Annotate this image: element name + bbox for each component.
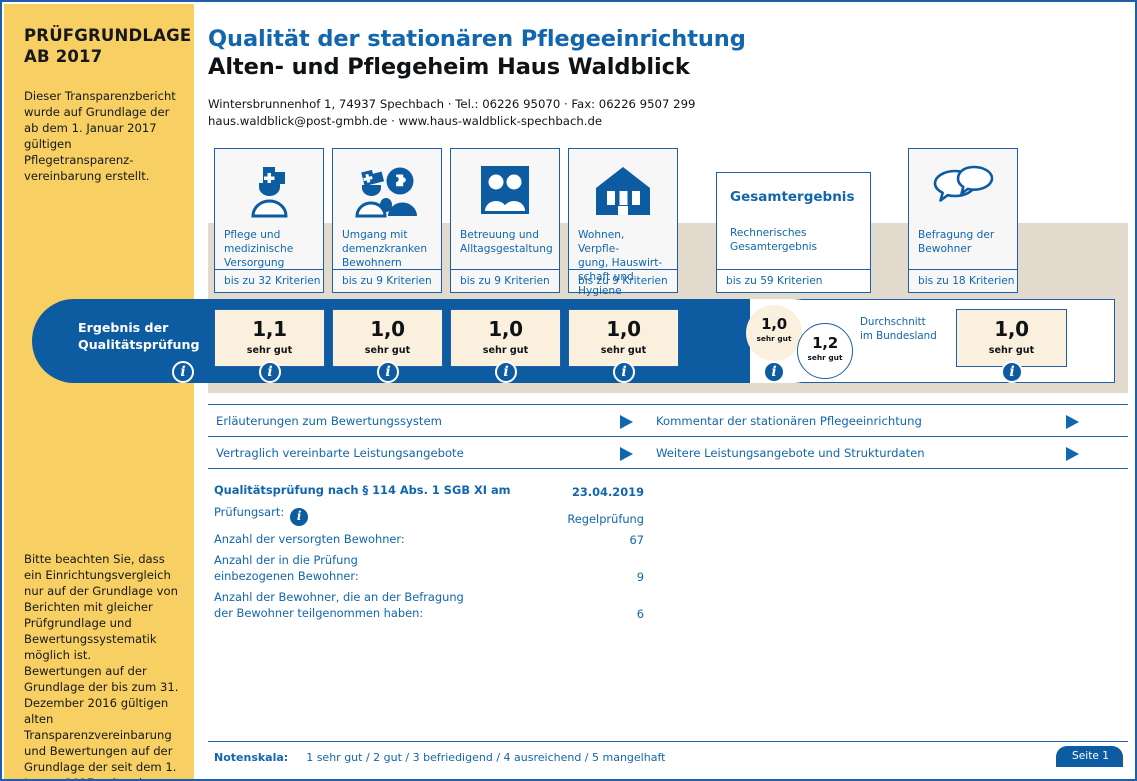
footer-divider	[208, 741, 1128, 742]
criteria-card-count: bis zu 9 Kriterien	[569, 269, 677, 292]
detail-value: 9	[637, 570, 644, 584]
sidebar-title-line2: AB 2017	[24, 47, 102, 66]
detail-value: 23.04.2019	[572, 485, 644, 499]
criteria-card-befragung[interactable]: Befragung derBewohner bis zu 18 Kriterie…	[908, 148, 1018, 293]
dementia-icon	[333, 149, 441, 227]
detail-row-pruefungsart: Prüfungsart:i Regelprüfung	[214, 505, 644, 526]
facility-name: Alten- und Pflegeheim Haus Waldblick	[208, 54, 1113, 81]
link-strukturdaten[interactable]: Weitere Leistungsangebote und Strukturda…	[656, 437, 925, 468]
nurse-icon	[215, 149, 323, 227]
report-header: Qualität der stationären Pflegeeinrichtu…	[208, 26, 1113, 130]
facility-address: Wintersbrunnenhof 1, 74937 Spechbach · T…	[208, 96, 1113, 130]
score-grade: sehr gut	[798, 353, 852, 362]
detail-row-befragte-bewohner: Anzahl der Bewohner, die an der Befragun…	[214, 590, 644, 621]
info-icon-gesamt[interactable]: i	[763, 361, 785, 383]
score-value: 1,2	[798, 334, 852, 352]
sidebar-title: PRÜFGRUNDLAGEAB 2017	[24, 26, 176, 67]
score-pflege[interactable]: 1,1 sehr gut	[214, 309, 325, 367]
score-grade: sehr gut	[746, 334, 802, 343]
detail-value: 6	[637, 607, 644, 621]
address-line-2: haus.waldblick@post-gmbh.de · www.haus-w…	[208, 113, 1113, 130]
detail-value: 67	[630, 533, 645, 547]
criteria-card-betreuung[interactable]: Betreuung undAlltagsgestaltung bis zu 9 …	[450, 148, 560, 293]
info-icon-demenz[interactable]: i	[377, 361, 399, 383]
score-grade: sehr gut	[957, 345, 1066, 356]
info-icon-befragung[interactable]: i	[1001, 361, 1023, 383]
speech-bubbles-icon	[909, 149, 1017, 227]
criteria-card-gesamtergebnis[interactable]: Gesamtergebnis RechnerischesGesamtergebn…	[716, 172, 871, 293]
sidebar-intro-text: Dieser Transparenzbericht wurde auf Grun…	[24, 89, 176, 185]
info-icon-pruefungsart[interactable]: i	[290, 508, 308, 526]
detail-row-einbezogene-bewohner: Anzahl der in die Prüfungeinbezogenen Be…	[214, 553, 644, 584]
sidebar-title-line1: PRÜFGRUNDLAGE	[24, 26, 191, 45]
score-wohnen[interactable]: 1,0 sehr gut	[568, 309, 679, 367]
score-value: 1,0	[746, 315, 802, 333]
score-gesamtergebnis-circle[interactable]: 1,0 sehr gut	[746, 305, 802, 361]
score-grade: sehr gut	[569, 345, 678, 356]
score-value: 1,0	[451, 317, 560, 341]
criteria-card-count: bis zu 32 Kriterien	[215, 269, 323, 292]
link-erlaeuterungen[interactable]: Erläuterungen zum Bewertungssystem	[216, 405, 442, 436]
detail-value: Regelprüfung	[567, 512, 644, 526]
score-grade: sehr gut	[215, 345, 324, 356]
criteria-card-demenz[interactable]: Umgang mitdemenzkrankenBewohnern bis zu …	[332, 148, 442, 293]
criteria-card-label: Betreuung undAlltagsgestaltung	[451, 227, 559, 257]
address-line-1: Wintersbrunnenhof 1, 74937 Spechbach · T…	[208, 96, 1113, 113]
arrow-right-icon[interactable]	[620, 415, 633, 429]
criteria-card-label: Pflege undmedizinischeVersorgung	[215, 227, 323, 271]
detail-row-pruefdatum: Qualitätsprüfung nach § 114 Abs. 1 SGB X…	[214, 483, 644, 499]
criteria-card-label: Befragung derBewohner	[909, 227, 1017, 257]
sidebar-note-text: Bitte beachten Sie, dass ein Einrichtung…	[24, 552, 179, 781]
score-betreuung[interactable]: 1,0 sehr gut	[450, 309, 561, 367]
notenskala-value: 1 sehr gut / 2 gut / 3 befriedigend / 4 …	[306, 751, 665, 764]
link-row: Vertraglich vereinbarte Leistungsangebot…	[208, 437, 1128, 469]
score-demenz[interactable]: 1,0 sehr gut	[332, 309, 443, 367]
score-befragung[interactable]: 1,0 sehr gut	[956, 309, 1067, 367]
info-icon-betreuung[interactable]: i	[495, 361, 517, 383]
criteria-card-strip: Pflege undmedizinischeVersorgung bis zu …	[208, 148, 1128, 293]
notenskala-label: Notenskala:	[214, 751, 288, 764]
criteria-card-pflege[interactable]: Pflege undmedizinischeVersorgung bis zu …	[214, 148, 324, 293]
link-row: Erläuterungen zum Bewertungssystem Komme…	[208, 404, 1128, 437]
criteria-card-label: Umgang mitdemenzkrankenBewohnern	[333, 227, 441, 271]
two-people-icon	[451, 149, 559, 227]
sidebar: PRÜFGRUNDLAGEAB 2017 Dieser Transparenzb…	[4, 4, 194, 781]
info-icon-pflege[interactable]: i	[259, 361, 281, 383]
score-grade: sehr gut	[451, 345, 560, 356]
arrow-right-icon[interactable]	[620, 447, 633, 461]
link-kommentar[interactable]: Kommentar der stationären Pflegeeinricht…	[656, 405, 922, 436]
link-leistungsangebote[interactable]: Vertraglich vereinbarte Leistungsangebot…	[216, 437, 464, 468]
arrow-right-icon[interactable]	[1066, 415, 1079, 429]
criteria-card-label: RechnerischesGesamtergebnis	[717, 205, 870, 255]
gesamtergebnis-heading: Gesamtergebnis	[717, 173, 870, 205]
result-bar-label: Ergebnis derQualitätsprüfung	[78, 319, 199, 353]
page-title: Qualität der stationären Pflegeeinrichtu…	[208, 26, 1113, 53]
criteria-card-count: bis zu 9 Kriterien	[451, 269, 559, 292]
detail-row-versorgte-bewohner: Anzahl der versorgten Bewohner: 67	[214, 532, 644, 548]
score-grade: sehr gut	[333, 345, 442, 356]
bundesland-average-label: Durchschnittim Bundesland	[860, 316, 937, 344]
score-value: 1,0	[569, 317, 678, 341]
score-value: 1,1	[215, 317, 324, 341]
criteria-card-wohnen[interactable]: Wohnen, Verpfle-gung, Hauswirt-schaft un…	[568, 148, 678, 293]
result-bar: Ergebnis derQualitätsprüfung 1,1 sehr gu…	[32, 299, 1115, 383]
detail-label: Anzahl der Bewohner, die an der Befragun…	[214, 590, 514, 621]
info-icon-ergebnis[interactable]: i	[172, 361, 194, 383]
info-icon-wohnen[interactable]: i	[613, 361, 635, 383]
house-icon	[569, 149, 677, 227]
score-bundesland-average-circle: 1,2 sehr gut	[797, 323, 853, 379]
criteria-card-count: bis zu 18 Kriterien	[909, 269, 1017, 292]
link-rows: Erläuterungen zum Bewertungssystem Komme…	[208, 404, 1128, 469]
page-number-badge: Seite 1	[1056, 746, 1123, 767]
detail-label: Anzahl der in die Prüfungeinbezogenen Be…	[214, 553, 514, 584]
arrow-right-icon[interactable]	[1066, 447, 1079, 461]
criteria-card-count: bis zu 9 Kriterien	[333, 269, 441, 292]
score-value: 1,0	[957, 317, 1066, 341]
score-value: 1,0	[333, 317, 442, 341]
criteria-card-count: bis zu 59 Kriterien	[717, 269, 870, 292]
transparency-report-page: PRÜFGRUNDLAGEAB 2017 Dieser Transparenzb…	[0, 0, 1137, 781]
detail-label: Qualitätsprüfung nach § 114 Abs. 1 SGB X…	[214, 483, 514, 499]
detail-label: Prüfungsart:	[214, 505, 284, 519]
footer: Notenskala:1 sehr gut / 2 gut / 3 befrie…	[214, 751, 665, 764]
detail-label: Anzahl der versorgten Bewohner:	[214, 532, 514, 548]
inspection-details: Qualitätsprüfung nach § 114 Abs. 1 SGB X…	[214, 483, 644, 627]
